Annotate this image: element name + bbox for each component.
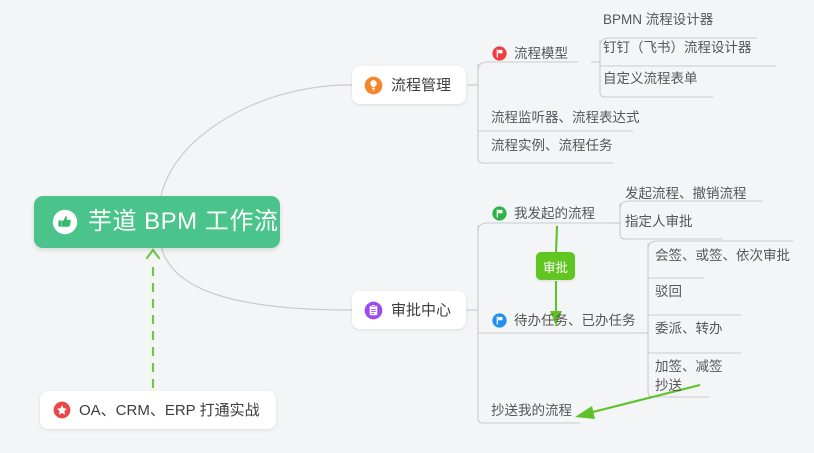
leaf-cc-to-me-process[interactable]: 抄送我的流程 bbox=[491, 404, 572, 422]
star-icon bbox=[53, 401, 71, 419]
branch-label-approval-center: 审批中心 bbox=[391, 303, 451, 318]
flag-icon bbox=[492, 46, 507, 61]
leaf-label-designated-approver: 指定人审批 bbox=[625, 215, 693, 229]
branch-node-process-management[interactable]: 流程管理 bbox=[352, 66, 466, 104]
thumbs-up-icon bbox=[52, 209, 78, 235]
leaf-todo-done-task[interactable]: 待办任务、已办任务 bbox=[492, 313, 636, 332]
leaf-dingtalk-feishu-designer[interactable]: 钉钉（飞书）流程设计器 bbox=[603, 41, 752, 59]
leaf-my-started-process[interactable]: 我发起的流程 bbox=[492, 206, 595, 225]
leaf-label-reject: 驳回 bbox=[655, 285, 682, 299]
annotation-tag-approval-label: 审批 bbox=[543, 257, 568, 276]
leaf-designated-approver[interactable]: 指定人审批 bbox=[625, 215, 693, 233]
annotation-tag-approval: 审批 bbox=[536, 252, 575, 280]
leaf-reject[interactable]: 驳回 bbox=[655, 285, 682, 303]
leaf-label-listener-expression: 流程监听器、流程表达式 bbox=[491, 111, 640, 125]
leaf-start-cancel-process[interactable]: 发起流程、撤销流程 bbox=[625, 187, 747, 205]
leaf-bpmn-designer[interactable]: BPMN 流程设计器 bbox=[603, 13, 713, 31]
note-node-integration-practice[interactable]: OA、CRM、ERP 打通实战 bbox=[40, 391, 276, 429]
root-node-label: 芋道 BPM 工作流 bbox=[88, 210, 278, 234]
leaf-listener-expression[interactable]: 流程监听器、流程表达式 bbox=[491, 111, 640, 129]
leaf-label-delegate-transfer: 委派、转办 bbox=[655, 322, 723, 336]
flag-icon bbox=[492, 313, 507, 328]
branch-node-approval-center[interactable]: 审批中心 bbox=[352, 291, 466, 329]
leaf-delegate-transfer[interactable]: 委派、转办 bbox=[655, 322, 723, 340]
leaf-instance-task[interactable]: 流程实例、流程任务 bbox=[491, 139, 613, 157]
leaf-label-cc-to-me-process: 抄送我的流程 bbox=[491, 404, 572, 418]
leaf-label-my-started-process: 我发起的流程 bbox=[514, 207, 595, 221]
leaf-label-bpmn-designer: BPMN 流程设计器 bbox=[603, 13, 713, 27]
leaf-custom-process-form[interactable]: 自定义流程表单 bbox=[603, 72, 698, 90]
root-node[interactable]: 芋道 BPM 工作流 bbox=[34, 196, 280, 248]
leaf-carbon-copy[interactable]: 抄送 bbox=[655, 379, 682, 397]
lightbulb-icon bbox=[364, 76, 383, 95]
leaf-label-carbon-copy: 抄送 bbox=[655, 379, 682, 393]
leaf-add-remove-sign[interactable]: 加签、减签 bbox=[655, 360, 723, 378]
leaf-label-add-remove-sign: 加签、减签 bbox=[655, 360, 723, 374]
leaf-label-custom-process-form: 自定义流程表单 bbox=[603, 72, 698, 86]
flag-icon bbox=[492, 206, 507, 221]
branch-label-process-management: 流程管理 bbox=[391, 78, 451, 93]
leaf-label-process-model: 流程模型 bbox=[514, 47, 568, 61]
leaf-label-start-cancel-process: 发起流程、撤销流程 bbox=[625, 187, 747, 201]
leaf-process-model[interactable]: 流程模型 bbox=[492, 46, 568, 65]
note-node-label: OA、CRM、ERP 打通实战 bbox=[79, 403, 260, 418]
leaf-countersign-orsign-sequential[interactable]: 会签、或签、依次审批 bbox=[655, 249, 790, 267]
leaf-label-dingtalk-feishu-designer: 钉钉（飞书）流程设计器 bbox=[603, 41, 752, 55]
leaf-label-todo-done-task: 待办任务、已办任务 bbox=[514, 314, 636, 328]
mindmap-canvas: 芋道 BPM 工作流 流程管理 流程模型 BPMN 流程设计器 钉 bbox=[0, 0, 814, 453]
leaf-label-instance-task: 流程实例、流程任务 bbox=[491, 139, 613, 153]
leaf-label-countersign-orsign-sequential: 会签、或签、依次审批 bbox=[655, 249, 790, 263]
clipboard-icon bbox=[364, 301, 383, 320]
